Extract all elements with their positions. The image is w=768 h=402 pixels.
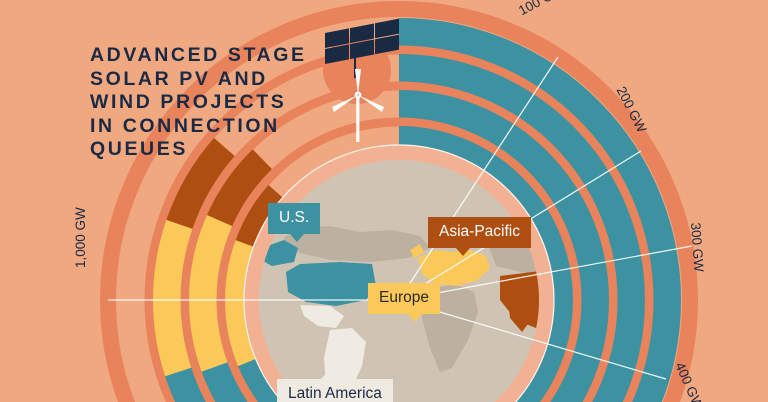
axis-label-1000gw: 1,000 GW (73, 207, 88, 268)
region-label-latin-america-text: Latin America (288, 385, 382, 402)
callout-tail-icon (456, 248, 470, 256)
region-label-latin-america: Latin America (277, 379, 393, 402)
region-label-us-text: U.S. (279, 209, 309, 226)
region-label-us: U.S. (268, 203, 320, 234)
callout-tail-icon (321, 371, 335, 379)
infographic-canvas: ADVANCED STAGE SOLAR PV AND WIND PROJECT… (0, 0, 768, 402)
radial-arc-chart (0, 0, 768, 402)
region-label-asia-pacific: Asia-Pacific (428, 217, 531, 248)
callout-tail-icon (408, 314, 422, 322)
region-label-asia-pacific-text: Asia-Pacific (439, 223, 520, 240)
callout-tail-icon (290, 234, 304, 242)
region-label-europe-text: Europe (379, 289, 429, 306)
region-label-europe: Europe (368, 283, 440, 314)
